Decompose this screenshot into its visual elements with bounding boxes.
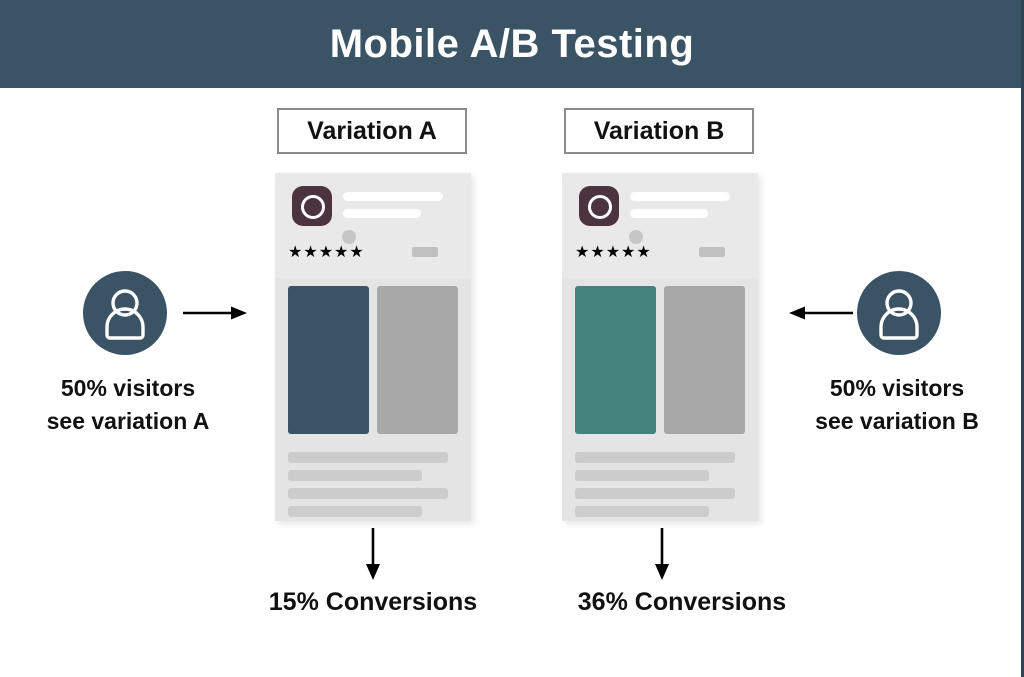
headline-bar-primary — [343, 192, 443, 201]
visitor-avatar-b — [857, 271, 941, 355]
infographic-canvas: Mobile A/B Testing Variation A Variation… — [0, 0, 1024, 677]
star-rating-icon: ★★★★★ — [575, 245, 652, 261]
variation-a-label-box: Variation A — [277, 108, 467, 154]
visitor-caption-b-line1: 50% visitors — [757, 372, 1024, 405]
content-text-bar — [575, 488, 735, 499]
visitor-caption-a: 50% visitors see variation A — [0, 372, 268, 439]
visitor-caption-a-line2: see variation A — [0, 405, 268, 438]
content-text-bar — [575, 506, 709, 517]
visitor-caption-b-line2: see variation B — [757, 405, 1024, 438]
header-banner: Mobile A/B Testing — [0, 0, 1024, 88]
page-title: Mobile A/B Testing — [330, 24, 695, 64]
content-text-bar — [288, 488, 448, 499]
content-text-bar — [288, 470, 422, 481]
star-rating-icon: ★★★★★ — [288, 245, 365, 261]
tag-pill — [699, 247, 725, 257]
flow-arrow-to-variation-b — [789, 305, 853, 321]
headline-bar-secondary — [630, 209, 708, 218]
phone-mockup-variation-b: ★★★★★ — [562, 173, 758, 521]
dot-icon — [342, 230, 356, 244]
app-logo-icon — [292, 186, 332, 226]
tag-pill — [412, 247, 438, 257]
app-logo-icon — [579, 186, 619, 226]
ring-icon — [301, 195, 325, 219]
headline-bar-secondary — [343, 209, 421, 218]
hero-card-variation-b — [575, 286, 656, 434]
phone-a-header-area: ★★★★★ — [275, 173, 471, 278]
conversion-arrow-b — [653, 528, 671, 580]
secondary-card-a — [377, 286, 458, 434]
variation-a-label-text: Variation A — [307, 117, 437, 146]
user-icon — [83, 271, 167, 355]
headline-bar-primary — [630, 192, 730, 201]
variation-b-label-box: Variation B — [564, 108, 754, 154]
content-text-bar — [575, 470, 709, 481]
hero-card-variation-a — [288, 286, 369, 434]
visitor-caption-b: 50% visitors see variation B — [757, 372, 1024, 439]
phone-mockup-variation-a: ★★★★★ — [275, 173, 471, 521]
content-text-bar — [288, 452, 448, 463]
content-text-bar — [575, 452, 735, 463]
flow-arrow-to-variation-a — [183, 305, 247, 321]
phone-b-header-area: ★★★★★ — [562, 173, 758, 278]
conversion-label-b: 36% Conversions — [522, 588, 842, 617]
conversion-label-a: 15% Conversions — [213, 588, 533, 617]
visitor-caption-a-line1: 50% visitors — [0, 372, 268, 405]
conversion-arrow-a — [364, 528, 382, 580]
secondary-card-b — [664, 286, 745, 434]
variation-b-label-text: Variation B — [594, 117, 725, 146]
visitor-avatar-a — [83, 271, 167, 355]
ring-icon — [588, 195, 612, 219]
dot-icon — [629, 230, 643, 244]
content-text-bar — [288, 506, 422, 517]
user-icon — [857, 271, 941, 355]
